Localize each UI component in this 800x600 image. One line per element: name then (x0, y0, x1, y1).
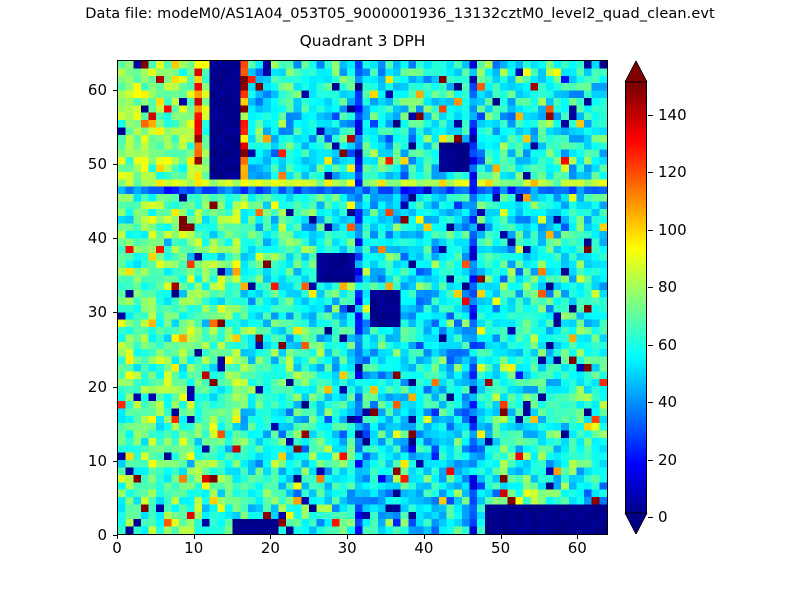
x-tick-label: 0 (112, 539, 122, 557)
y-tick-label: 30 (65, 303, 107, 321)
y-tick-label: 20 (65, 378, 107, 396)
heatmap-axes[interactable] (117, 60, 608, 535)
x-tick-label: 30 (338, 539, 357, 557)
colorbar-gradient (624, 60, 652, 535)
heatmap-image[interactable] (118, 61, 607, 534)
colorbar-tick-mark (648, 115, 653, 116)
x-tick-label: 20 (261, 539, 280, 557)
figure-canvas: Data file: modeM0/AS1A04_053T05_90000019… (0, 0, 800, 600)
colorbar[interactable]: 020406080100120140 (624, 60, 654, 535)
colorbar-tick-mark (648, 287, 653, 288)
colorbar-tick-mark (648, 402, 653, 403)
y-tick-mark (113, 164, 117, 165)
y-tick-mark (113, 312, 117, 313)
x-tick-label: 60 (568, 539, 587, 557)
y-tick-label: 50 (65, 155, 107, 173)
colorbar-tick-label: 60 (658, 336, 677, 354)
colorbar-tick-label: 0 (658, 508, 668, 526)
x-tick-label: 50 (491, 539, 510, 557)
colorbar-tick-mark (648, 517, 653, 518)
y-tick-label: 10 (65, 452, 107, 470)
y-tick-mark (113, 90, 117, 91)
datafile-label: Data file: modeM0/AS1A04_053T05_90000019… (0, 6, 800, 22)
colorbar-tick-label: 20 (658, 451, 677, 469)
y-tick-label: 0 (65, 526, 107, 544)
y-tick-mark (113, 461, 117, 462)
colorbar-tick-mark (648, 345, 653, 346)
colorbar-tick-label: 80 (658, 278, 677, 296)
y-tick-mark (113, 535, 117, 536)
y-tick-mark (113, 238, 117, 239)
colorbar-tick-label: 120 (658, 163, 687, 181)
y-tick-mark (113, 387, 117, 388)
y-tick-label: 60 (65, 81, 107, 99)
colorbar-tick-label: 40 (658, 393, 677, 411)
colorbar-tick-mark (648, 172, 653, 173)
plot-title: Quadrant 3 DPH (117, 32, 608, 50)
colorbar-tick-mark (648, 230, 653, 231)
colorbar-tick-mark (648, 460, 653, 461)
colorbar-tick-label: 100 (658, 221, 687, 239)
x-tick-label: 40 (414, 539, 433, 557)
y-tick-label: 40 (65, 229, 107, 247)
x-tick-label: 10 (184, 539, 203, 557)
colorbar-tick-label: 140 (658, 106, 687, 124)
